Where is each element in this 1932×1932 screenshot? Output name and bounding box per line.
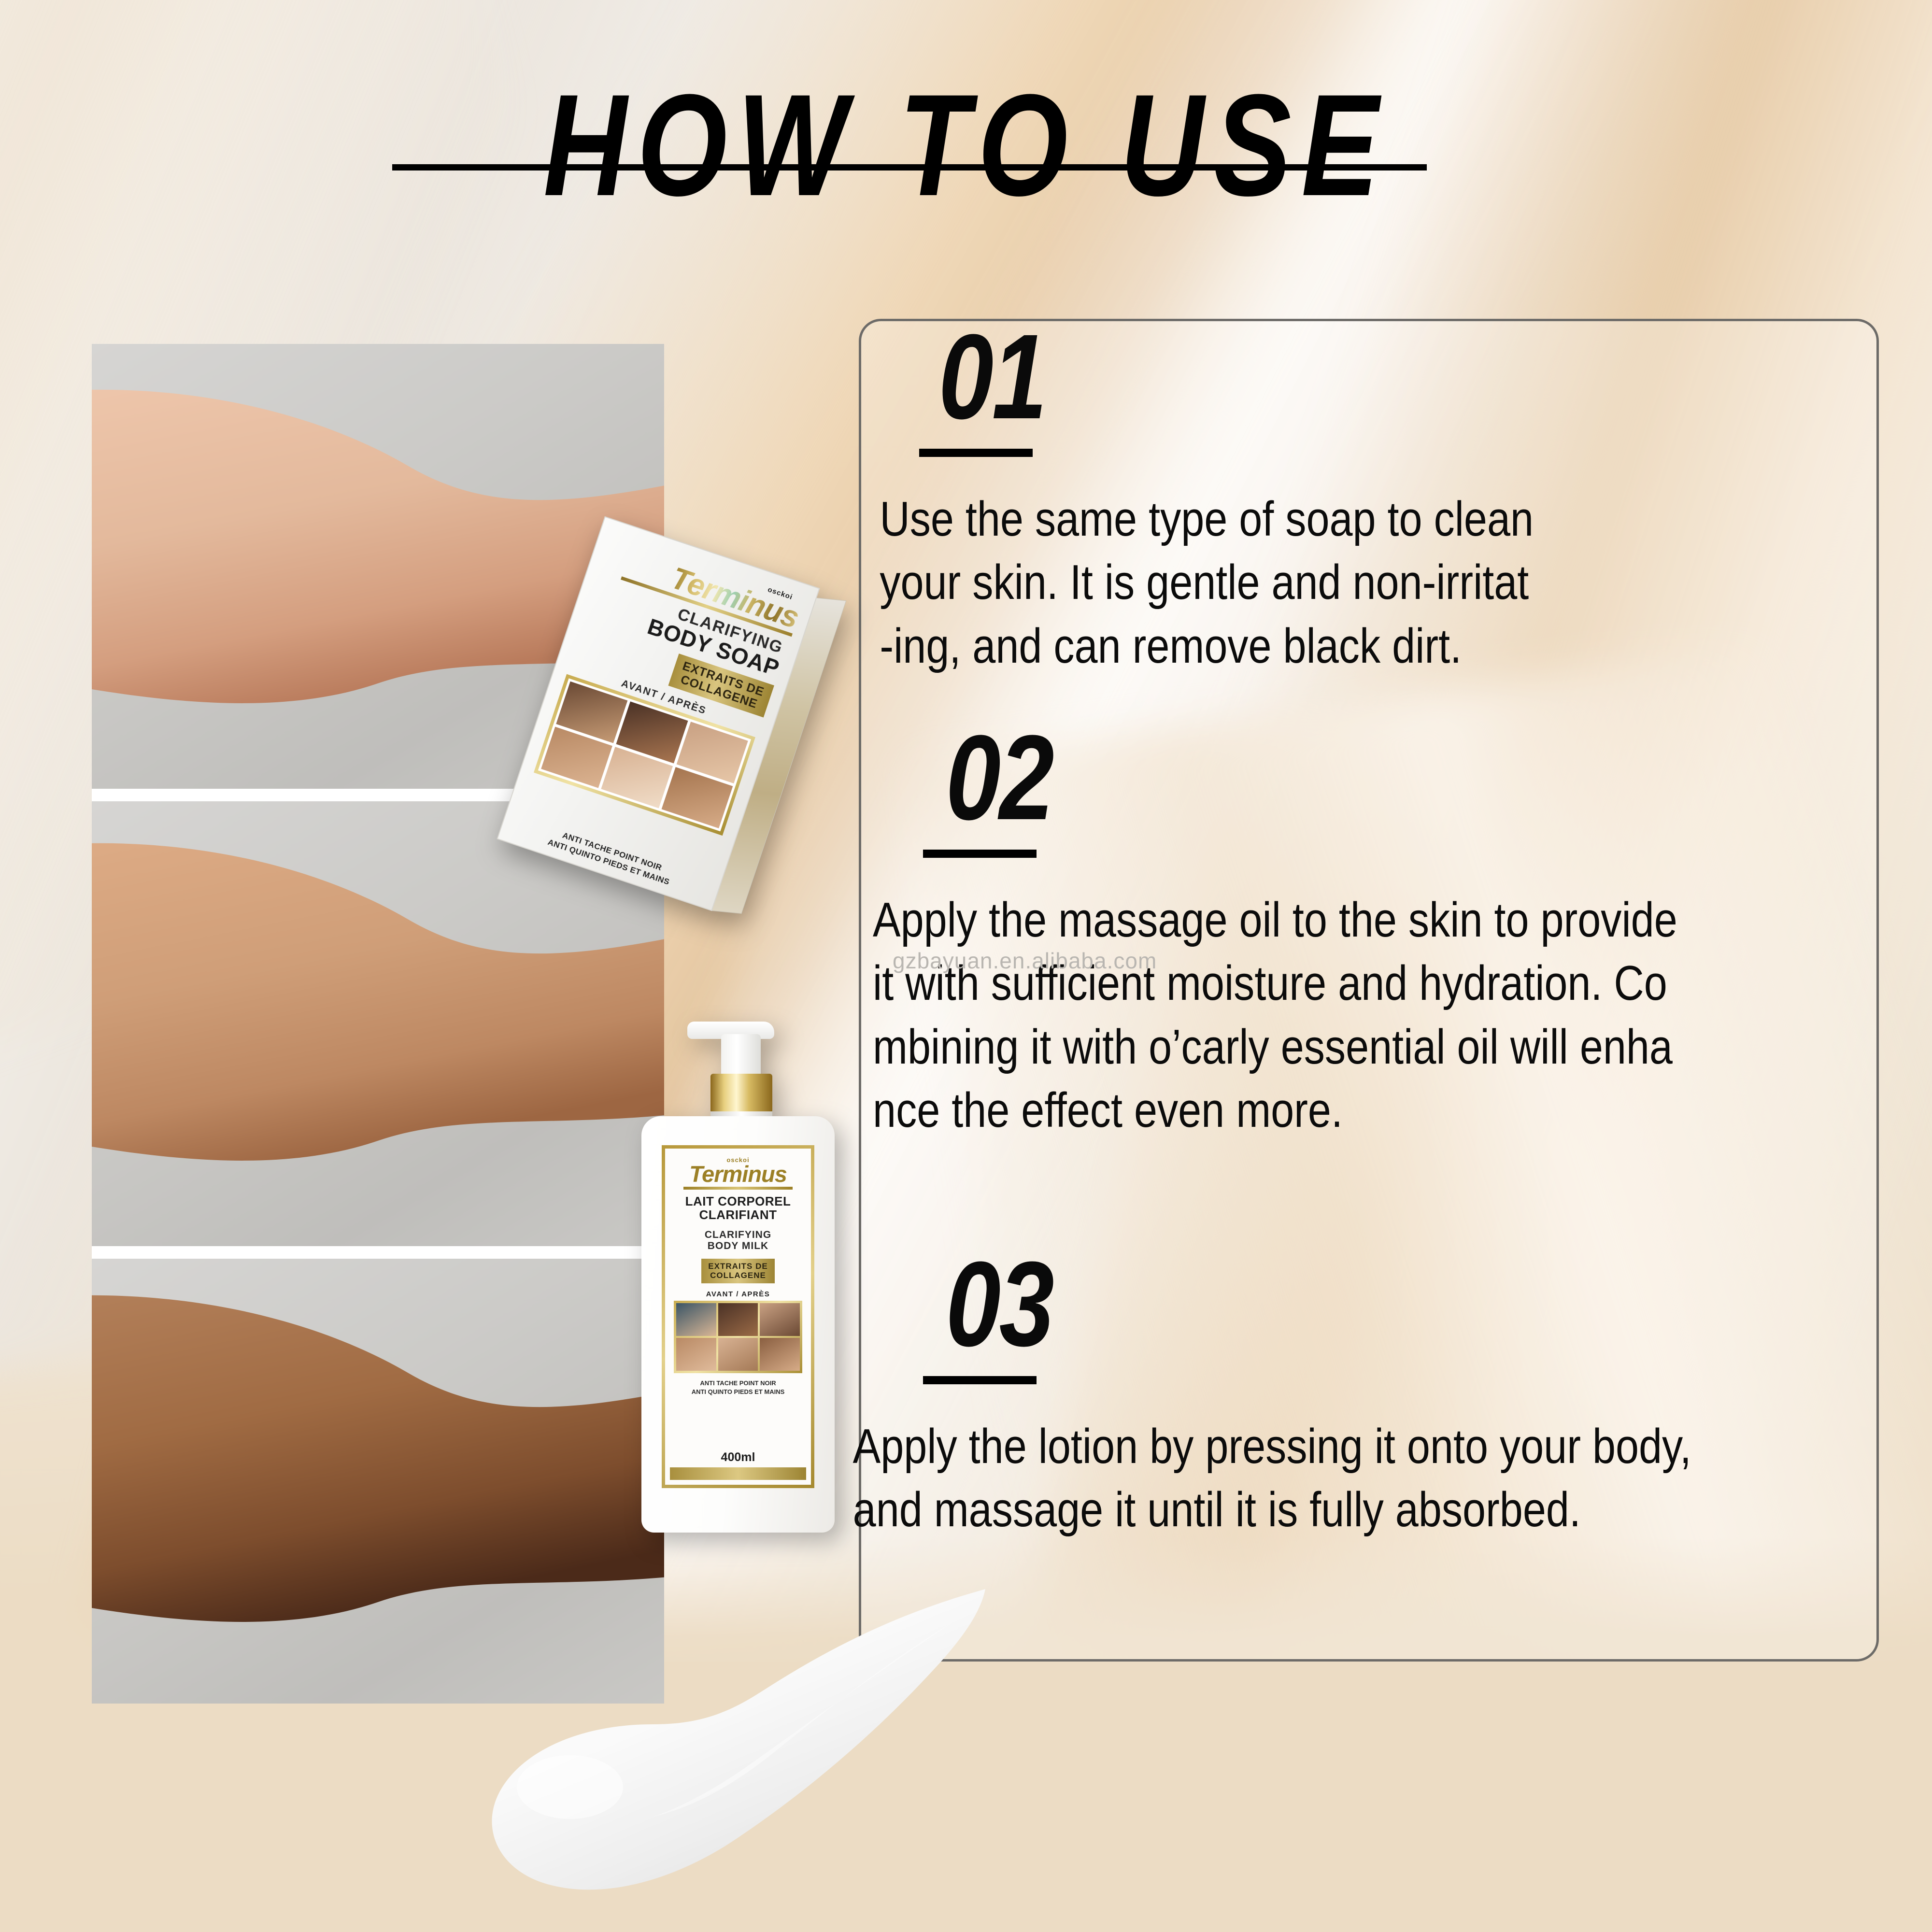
bottle-footer-claims: ANTI TACHE POINT NOIR ANTI QUINTO PIEDS … [692, 1379, 785, 1396]
grid-cell [676, 1338, 716, 1371]
step-number: 03 [946, 1249, 1052, 1360]
step-01: 01 Use the same type of soap to clean yo… [861, 321, 1876, 678]
steps-card: 01 Use the same type of soap to clean yo… [859, 319, 1879, 1662]
page-title: HOW TO USE [193, 72, 1739, 217]
grid-cell [718, 1338, 758, 1371]
cream-swatch [425, 1579, 995, 1918]
step-number: 01 [938, 321, 1045, 432]
grid-cell [676, 1303, 716, 1336]
grid-cell [760, 1338, 799, 1371]
bottle-before-after-grid [674, 1301, 802, 1373]
title-block: HOW TO USE [0, 72, 1932, 217]
bottle-brand-name: Terminus [689, 1164, 787, 1185]
bottle-volume: 400ml [721, 1450, 755, 1464]
skin-photo-medium [92, 801, 664, 1246]
bottle-label: osckoi Terminus LAIT CORPOREL CLARIFIANT… [662, 1145, 814, 1488]
pump-neck [721, 1034, 761, 1079]
grid-cell [760, 1303, 799, 1336]
step-description: Apply the massage oil to the skin to pro… [827, 889, 1847, 1142]
step-divider [923, 850, 1037, 858]
bottle-brand-bar [683, 1187, 793, 1190]
before-after-photo-strip [92, 344, 664, 1704]
bottle-product-en: CLARIFYING BODY MILK [705, 1229, 771, 1252]
bottle-collagen-tab: EXTRAITS DE COLLAGENE [701, 1259, 774, 1283]
step-02: 02 Apply the massage oil to the skin to … [861, 722, 1876, 1142]
bottle-product-fr: LAIT CORPOREL CLARIFIANT [685, 1194, 791, 1222]
step-03: 03 Apply the lotion by pressing it onto … [861, 1249, 1876, 1542]
bottle-volume-bar [670, 1467, 806, 1480]
step-description: Use the same type of soap to clean your … [832, 488, 1790, 678]
step-number: 02 [946, 722, 1052, 833]
grid-cell [718, 1303, 758, 1336]
limb-illustration [92, 819, 664, 1228]
bottle-body: osckoi Terminus LAIT CORPOREL CLARIFIANT… [641, 1116, 835, 1533]
title-underline [392, 164, 1427, 170]
step-divider [923, 1376, 1037, 1384]
step-divider [919, 449, 1033, 457]
bottle-avant-apres-label: AVANT / APRÈS [706, 1290, 770, 1298]
pump-gold-collar [710, 1074, 772, 1113]
lotion-bottle-product: osckoi Terminus LAIT CORPOREL CLARIFIANT… [637, 1022, 839, 1534]
step-description: Apply the lotion by pressing it onto you… [818, 1415, 1846, 1542]
